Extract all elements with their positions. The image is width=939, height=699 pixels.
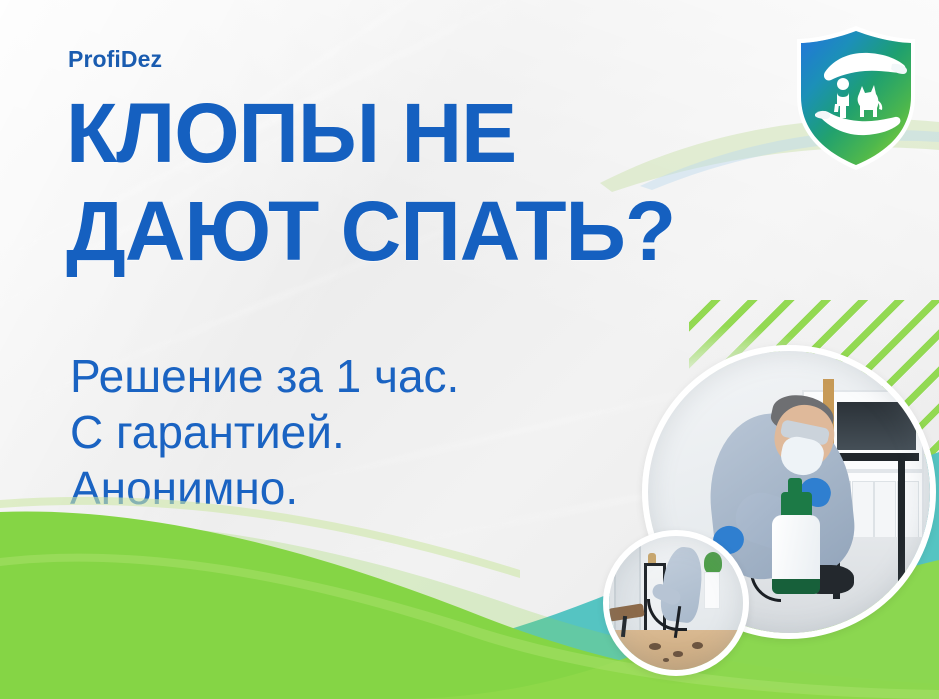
headline-line-2: ДАЮТ СПАТЬ? — [66, 190, 856, 272]
subtitle-line-2: С гарантией. — [70, 404, 630, 460]
subtitle: Решение за 1 час. С гарантией. Анонимно. — [70, 348, 630, 516]
headline: КЛОПЫ НЕ ДАЮТ СПАТЬ? — [66, 92, 856, 273]
subtitle-line-1: Решение за 1 час. — [70, 348, 630, 404]
subtitle-line-3: Анонимно. — [70, 460, 630, 516]
poster-canvas: ProfiDez — [0, 0, 939, 699]
brand-name: ProfiDez — [68, 46, 162, 73]
headline-line-1: КЛОПЫ НЕ — [66, 92, 856, 174]
photo-small-baseboard-treatment — [603, 530, 749, 676]
